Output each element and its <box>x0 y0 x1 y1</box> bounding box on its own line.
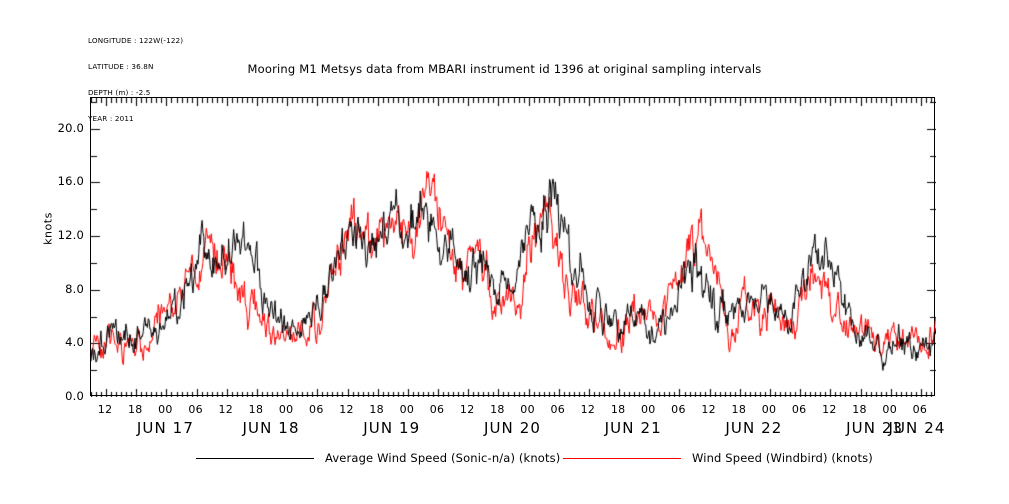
x-axis-day-label: JUN 22 <box>699 419 809 437</box>
legend-label: Wind Speed (Windbird) (knots) <box>692 451 873 465</box>
legend-entry: Average Wind Speed (Sonic-n/a) (knots) <box>196 449 560 467</box>
x-axis-day-label: JUN 21 <box>578 419 688 437</box>
x-axis-day-label: JUN 17 <box>110 419 220 437</box>
x-axis-day-labels: JUN 17JUN 18JUN 19JUN 20JUN 21JUN 22JUN … <box>0 0 1009 504</box>
x-axis-day-label: JUN 20 <box>458 419 568 437</box>
x-axis-day-label: JUN 24 <box>862 419 972 437</box>
x-axis-day-label: JUN 19 <box>337 419 447 437</box>
chart-legend: Average Wind Speed (Sonic-n/a) (knots)Wi… <box>0 449 1009 469</box>
legend-line-swatch <box>196 458 314 459</box>
legend-label: Average Wind Speed (Sonic-n/a) (knots) <box>325 451 560 465</box>
legend-line-swatch <box>563 458 681 459</box>
legend-entry: Wind Speed (Windbird) (knots) <box>563 449 873 467</box>
x-axis-day-label: JUN 18 <box>216 419 326 437</box>
